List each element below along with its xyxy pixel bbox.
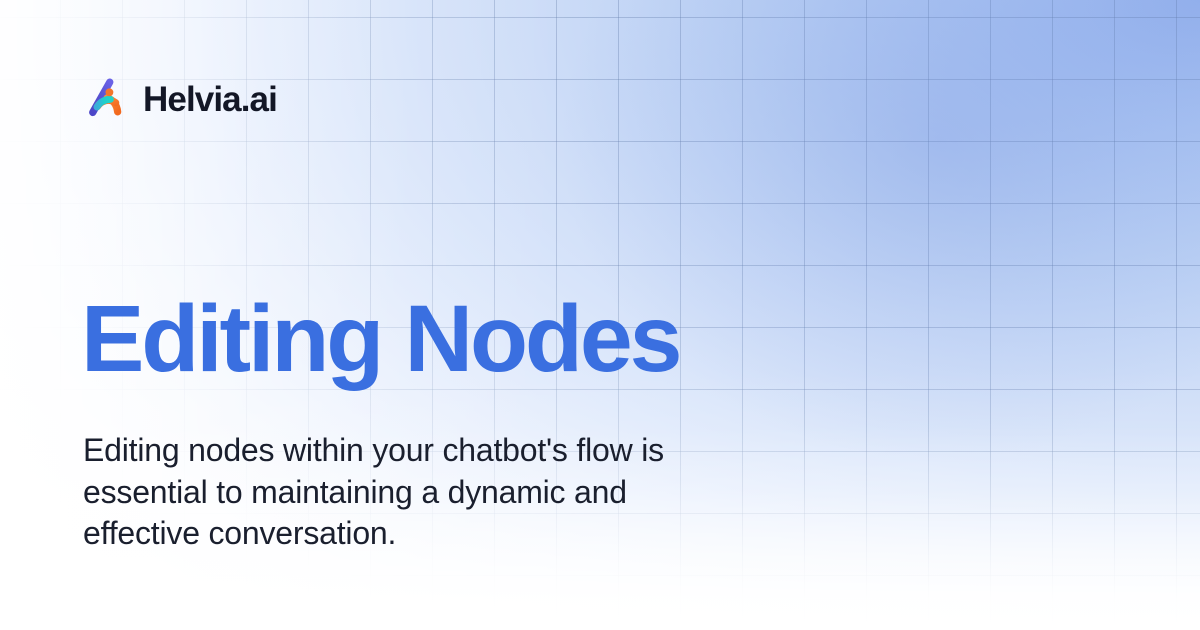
share-card: Helvia.ai Editing Nodes Editing nodes wi… bbox=[0, 0, 1200, 630]
card-content: Helvia.ai Editing Nodes Editing nodes wi… bbox=[0, 0, 1200, 630]
subtitle-line: Editing nodes within your chatbot's flow… bbox=[83, 430, 843, 472]
page-subtitle: Editing nodes within your chatbot's flow… bbox=[83, 430, 843, 555]
brand-name: Helvia.ai bbox=[143, 82, 277, 117]
helvia-a-mark-icon bbox=[82, 76, 128, 122]
brand-lockup[interactable]: Helvia.ai bbox=[82, 76, 277, 122]
page-title: Editing Nodes bbox=[81, 292, 679, 387]
subtitle-line: essential to maintaining a dynamic and bbox=[83, 472, 843, 514]
subtitle-line: effective conversation. bbox=[83, 513, 843, 555]
